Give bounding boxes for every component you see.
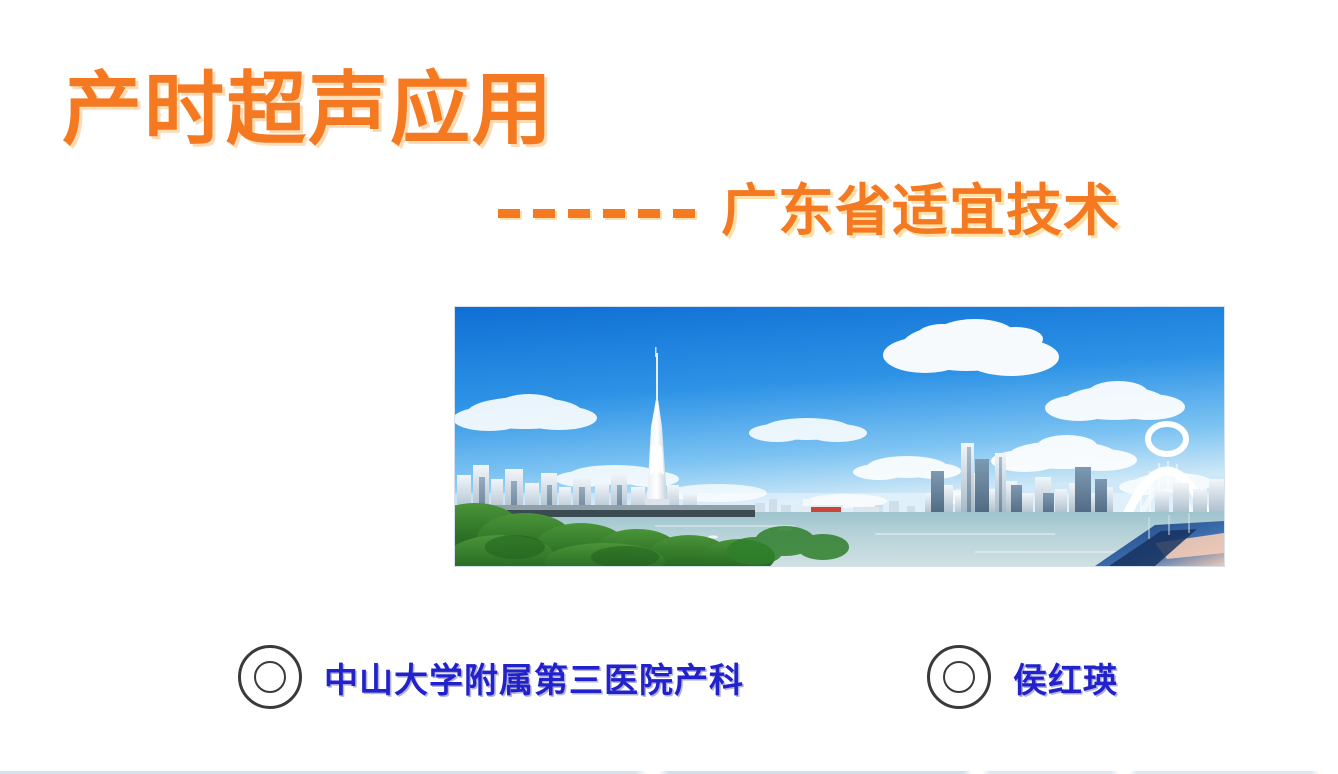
slide-subtitle-text: 广东省适宜技术 (721, 182, 1120, 241)
cityscape-illustration (455, 307, 1224, 566)
cityscape-photo (455, 307, 1224, 566)
organization-label: 中山大学附属第三医院产科 (324, 653, 744, 702)
double-ring-bullet-icon (927, 645, 991, 709)
slide-subtitle: 广东省适宜技术 (498, 182, 1120, 241)
double-ring-bullet-icon (238, 645, 302, 709)
credits-row: 中山大学附属第三医院产科 侯红瑛 (0, 645, 1338, 725)
dash-separator-icon (498, 209, 695, 218)
credit-organization: 中山大学附属第三医院产科 (238, 645, 744, 709)
credit-presenter: 侯红瑛 (927, 645, 1118, 709)
presenter-label: 侯红瑛 (1013, 653, 1118, 702)
slide-title: 产时超声应用 (62, 68, 554, 152)
presentation-slide: 产时超声应用 广东省适宜技术 (0, 0, 1338, 774)
